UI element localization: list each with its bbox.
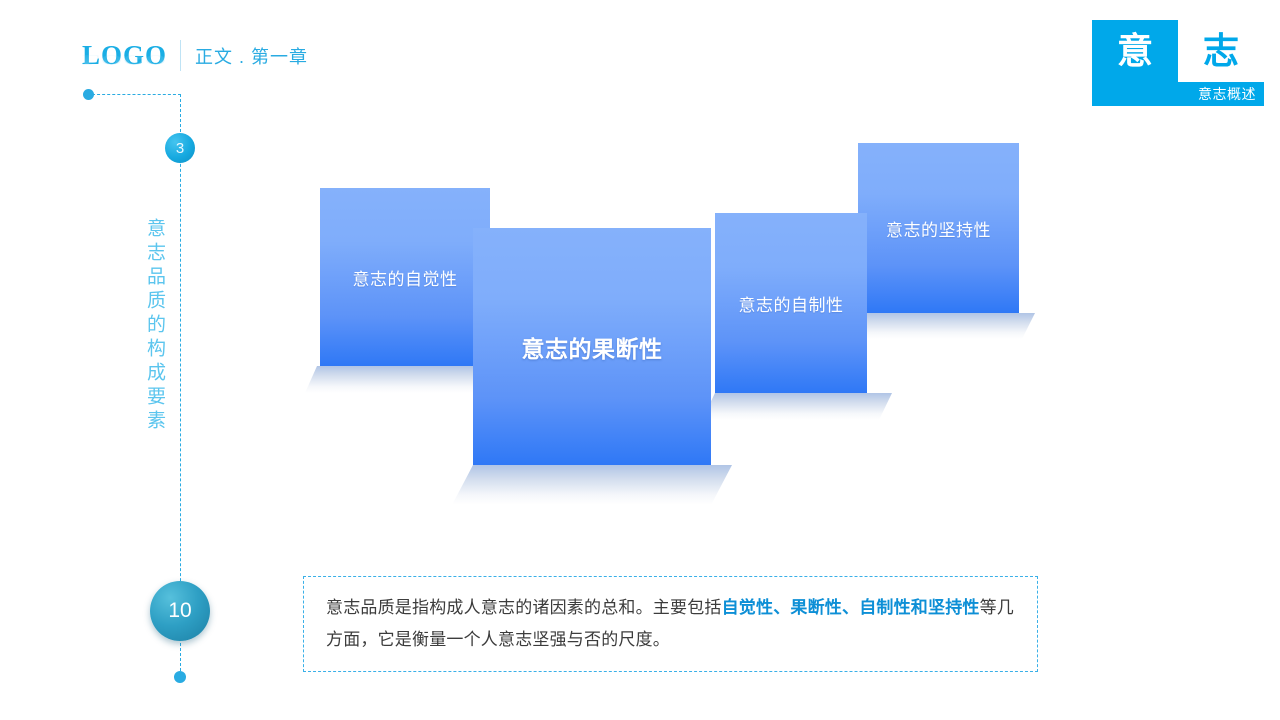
- panel-3-label: 意志的自制性: [739, 291, 844, 316]
- page-number-badge: 10: [150, 581, 210, 641]
- panel-1-label: 意志的自觉性: [353, 265, 458, 290]
- timeline-step-badge: 3: [165, 133, 195, 163]
- timeline-end-dot: [174, 671, 186, 683]
- summary-part-1: 意志品质是指构成人意志的诸因素的总和。主要包括: [326, 598, 722, 617]
- panel-2[interactable]: 意志的果断性: [473, 228, 711, 465]
- panel-4[interactable]: 意志的坚持性: [858, 143, 1019, 313]
- panel-2-label: 意志的果断性: [522, 330, 663, 364]
- corner-badge: 意 志 意志概述: [1092, 20, 1264, 106]
- summary-box: 意志品质是指构成人意志的诸因素的总和。主要包括自觉性、果断性、自制性和坚持性等几…: [303, 576, 1038, 672]
- corner-badge-char-2: 志: [1178, 20, 1264, 82]
- panel-3[interactable]: 意志的自制性: [715, 213, 867, 393]
- header-title: 正文 . 第一章: [195, 43, 308, 69]
- panel-base-4: [845, 313, 1035, 339]
- summary-highlight: 自觉性、果断性、自制性和坚持性: [722, 598, 980, 617]
- slide-canvas: LOGO LOGO 正文 . 第一章 意 志 意志概述 3 意志品质的构成要素 …: [0, 0, 1280, 720]
- panel-base-3: [702, 393, 892, 420]
- header-divider: [180, 40, 181, 71]
- panel-1[interactable]: 意志的自觉性: [320, 188, 490, 366]
- corner-badge-subtitle: 意志概述: [1092, 82, 1264, 106]
- corner-badge-char-1: 意: [1092, 20, 1178, 82]
- logo-reflection: LOGO: [82, 52, 172, 69]
- corner-badge-chars: 意 志: [1092, 20, 1264, 82]
- panel-base-2: [452, 465, 732, 505]
- panel-4-label: 意志的坚持性: [886, 216, 991, 241]
- logo[interactable]: LOGO LOGO: [82, 40, 172, 86]
- timeline-horizontal-line: [92, 94, 181, 95]
- summary-text: 意志品质是指构成人意志的诸因素的总和。主要包括自觉性、果断性、自制性和坚持性等几…: [326, 592, 1015, 656]
- section-vertical-title: 意志品质的构成要素: [136, 218, 166, 434]
